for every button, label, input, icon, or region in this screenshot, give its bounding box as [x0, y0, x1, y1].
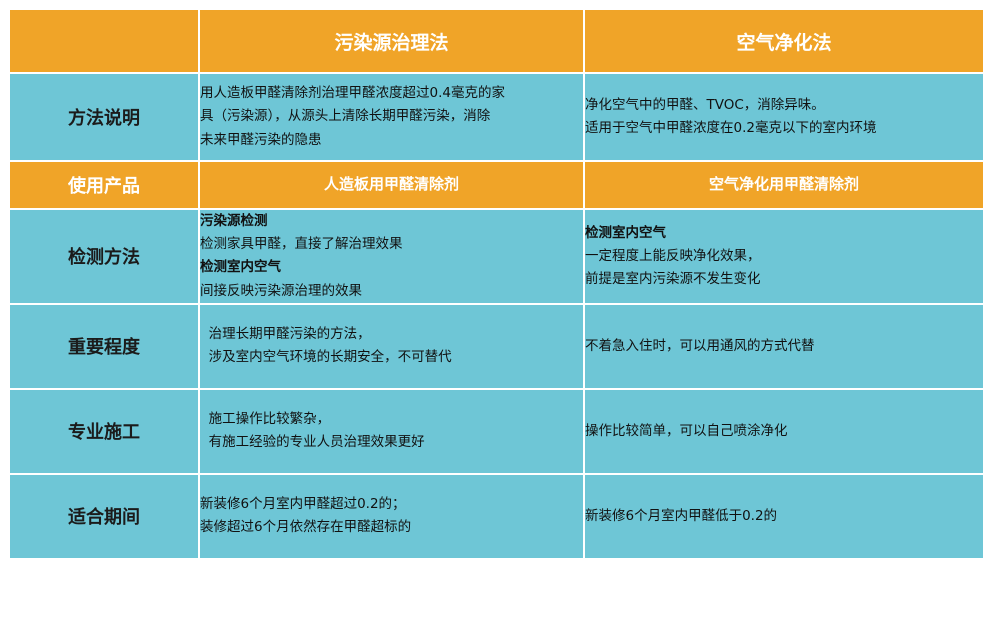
text-line: 新装修6个月室内甲醛低于0.2的 [585, 505, 983, 528]
text-line: 净化空气中的甲醛、TVOC，消除异味。 [585, 94, 983, 117]
text-line: 操作比较简单，可以自己喷涂净化 [585, 420, 983, 443]
table-row: 方法说明 用人造板甲醛清除剂治理甲醛浓度超过0.4毫克的家 具（污染源），从源头… [9, 73, 983, 161]
header-col2: 空气净化法 [584, 9, 983, 73]
header-blank-cell [9, 9, 199, 73]
cell-test-method-col1: 污染源检测 检测家具甲醛，直接了解治理效果 检测室内空气 间接反映污染源治理的效… [199, 209, 584, 304]
comparison-table: 污染源治理法 空气净化法 方法说明 用人造板甲醛清除剂治理甲醛浓度超过0.4毫克… [8, 8, 983, 560]
text-line: 前提是室内污染源不发生变化 [585, 268, 983, 291]
table-row: 适合期间 新装修6个月室内甲醛超过0.2的； 装修超过6个月依然存在甲醛超标的 … [9, 474, 983, 559]
cell-suitable-period-col1: 新装修6个月室内甲醛超过0.2的； 装修超过6个月依然存在甲醛超标的 [199, 474, 584, 559]
text-line: 不着急入住时，可以用通风的方式代替 [585, 335, 983, 358]
row-label-suitable-period: 适合期间 [9, 474, 199, 559]
cell-suitable-period-col2: 新装修6个月室内甲醛低于0.2的 [584, 474, 983, 559]
text-line: 检测室内空气 [200, 256, 583, 279]
cell-test-method-col2: 检测室内空气 一定程度上能反映净化效果， 前提是室内污染源不发生变化 [584, 209, 983, 304]
row-label-importance: 重要程度 [9, 304, 199, 389]
text-line: 用人造板甲醛清除剂治理甲醛浓度超过0.4毫克的家 [200, 82, 583, 105]
text-line: 污染源检测 [200, 210, 583, 233]
cell-importance-col2: 不着急入住时，可以用通风的方式代替 [584, 304, 983, 389]
row-label-test-method: 检测方法 [9, 209, 199, 304]
header-col1: 污染源治理法 [199, 9, 584, 73]
row-label-product-used: 使用产品 [9, 161, 199, 209]
cell-importance-col1: 治理长期甲醛污染的方法， 涉及室内空气环境的长期安全，不可替代 [199, 304, 584, 389]
cell-method-description-col2: 净化空气中的甲醛、TVOC，消除异味。 适用于空气中甲醛浓度在0.2毫克以下的室… [584, 73, 983, 161]
text-line: 未来甲醛污染的隐患 [200, 129, 583, 152]
table-header-row: 污染源治理法 空气净化法 [9, 9, 983, 73]
cell-product-used-col1: 人造板用甲醛清除剂 [199, 161, 584, 209]
row-label-professional-construction: 专业施工 [9, 389, 199, 474]
cell-method-description-col1: 用人造板甲醛清除剂治理甲醛浓度超过0.4毫克的家 具（污染源），从源头上清除长期… [199, 73, 584, 161]
text-line: 具（污染源），从源头上清除长期甲醛污染，消除 [200, 105, 583, 128]
text-line: 适用于空气中甲醛浓度在0.2毫克以下的室内环境 [585, 117, 983, 140]
text-line: 涉及室内空气环境的长期安全，不可替代 [200, 346, 583, 369]
comparison-table-page: 污染源治理法 空气净化法 方法说明 用人造板甲醛清除剂治理甲醛浓度超过0.4毫克… [0, 0, 983, 629]
cell-professional-construction-col1: 施工操作比较繁杂， 有施工经验的专业人员治理效果更好 [199, 389, 584, 474]
row-label-method-description: 方法说明 [9, 73, 199, 161]
table-row: 使用产品 人造板用甲醛清除剂 空气净化用甲醛清除剂 [9, 161, 983, 209]
cell-product-used-col2: 空气净化用甲醛清除剂 [584, 161, 983, 209]
text-line: 检测家具甲醛，直接了解治理效果 [200, 233, 583, 256]
text-line: 检测室内空气 [585, 222, 983, 245]
text-line: 施工操作比较繁杂， [200, 408, 583, 431]
text-line: 治理长期甲醛污染的方法， [200, 323, 583, 346]
table-row: 检测方法 污染源检测 检测家具甲醛，直接了解治理效果 检测室内空气 间接反映污染… [9, 209, 983, 304]
text-line: 装修超过6个月依然存在甲醛超标的 [200, 516, 583, 539]
table-row: 重要程度 治理长期甲醛污染的方法， 涉及室内空气环境的长期安全，不可替代 不着急… [9, 304, 983, 389]
text-line: 间接反映污染源治理的效果 [200, 280, 583, 303]
text-line: 一定程度上能反映净化效果， [585, 245, 983, 268]
text-line: 新装修6个月室内甲醛超过0.2的； [200, 493, 583, 516]
table-row: 专业施工 施工操作比较繁杂， 有施工经验的专业人员治理效果更好 操作比较简单，可… [9, 389, 983, 474]
cell-professional-construction-col2: 操作比较简单，可以自己喷涂净化 [584, 389, 983, 474]
text-line: 有施工经验的专业人员治理效果更好 [200, 431, 583, 454]
